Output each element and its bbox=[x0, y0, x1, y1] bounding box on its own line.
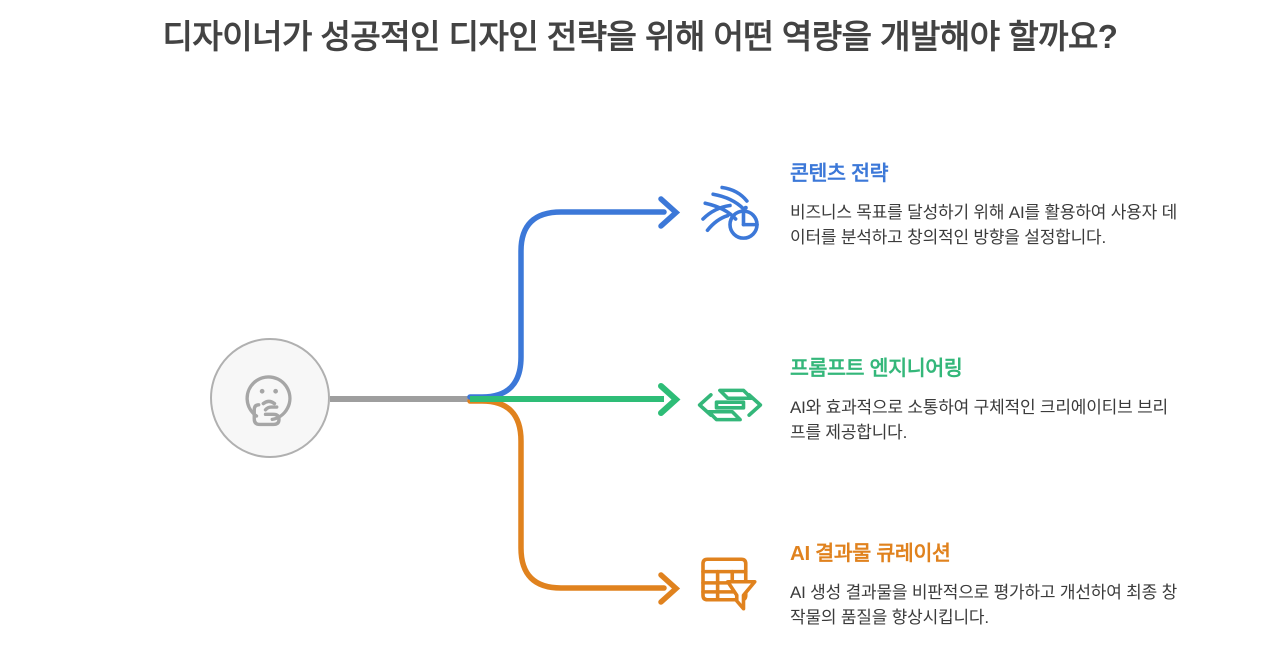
page-title: 디자이너가 성공적인 디자인 전략을 위해 어떤 역량을 개발해야 할까요? bbox=[0, 10, 1280, 58]
branch-text-ai-output-curation: AI 결과물 큐레이션 AI 생성 결과물을 비판적으로 평가하고 개선하여 최… bbox=[790, 542, 1180, 631]
data-stream-pie-chart-icon bbox=[694, 174, 766, 246]
connector-line-content-strategy bbox=[470, 212, 664, 397]
table-filter-funnel-icon bbox=[694, 548, 766, 620]
hub-node bbox=[210, 338, 330, 458]
branch-ai-output-curation: AI 결과물 큐레이션 AI 생성 결과물을 비판적으로 평가하고 개선하여 최… bbox=[694, 542, 1180, 631]
branch-description-ai-output-curation: AI 생성 결과물을 비판적으로 평가하고 개선하여 최종 창작물의 품질을 향… bbox=[790, 580, 1180, 631]
branch-heading-ai-output-curation: AI 결과물 큐레이션 bbox=[790, 542, 1180, 566]
branch-text-content-strategy: 콘텐츠 전략 비즈니스 목표를 달성하기 위해 AI를 활용하여 사용자 데이터… bbox=[790, 162, 1180, 251]
branch-prompt-engineering: 프롬프트 엔지니어링 AI와 효과적으로 소통하여 구체적인 크리에이티브 브리… bbox=[694, 357, 1180, 446]
arrowhead-curation bbox=[661, 575, 676, 602]
branch-text-prompt-engineering: 프롬프트 엔지니어링 AI와 효과적으로 소통하여 구체적인 크리에이티브 브리… bbox=[790, 357, 1180, 446]
thinking-face-icon bbox=[234, 362, 306, 434]
connector-line-curation bbox=[470, 401, 664, 588]
branch-heading-content-strategy: 콘텐츠 전략 bbox=[790, 162, 1180, 186]
branch-description-prompt-engineering: AI와 효과적으로 소통하여 구체적인 크리에이티브 브리프를 제공합니다. bbox=[790, 395, 1180, 446]
arrowhead-prompt-engineering bbox=[661, 386, 676, 413]
arrowhead-content-strategy bbox=[661, 199, 676, 226]
branch-heading-prompt-engineering: 프롬프트 엔지니어링 bbox=[790, 357, 1180, 381]
branch-description-content-strategy: 비즈니스 목표를 달성하기 위해 AI를 활용하여 사용자 데이터를 분석하고 … bbox=[790, 200, 1180, 251]
branch-content-strategy: 콘텐츠 전략 비즈니스 목표를 달성하기 위해 AI를 활용하여 사용자 데이터… bbox=[694, 162, 1180, 251]
double-chevron-exchange-icon bbox=[694, 369, 766, 441]
